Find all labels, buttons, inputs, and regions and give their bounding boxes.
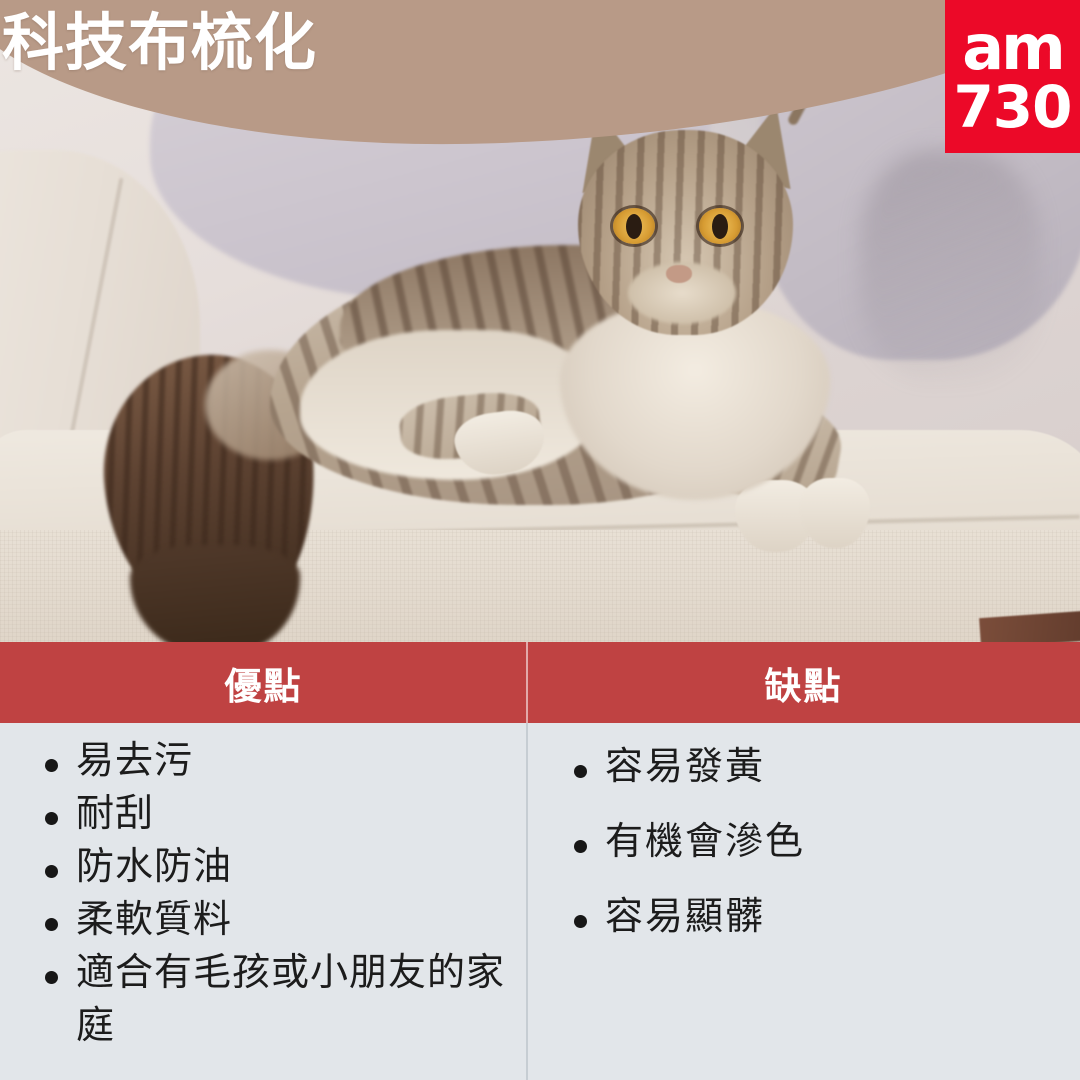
cat-pupil-right <box>712 214 728 239</box>
table-header-cons: 缺點 <box>527 642 1080 723</box>
page-title: 科技布梳化 <box>2 6 317 82</box>
list-item: 容易顯髒 <box>569 891 1070 944</box>
list-item: 柔軟質料 <box>40 894 517 947</box>
list-item: 防水防油 <box>40 841 517 894</box>
cat-pupil-left <box>626 214 642 239</box>
cat-tail-tip <box>130 545 300 642</box>
hero-photo <box>0 0 1080 642</box>
list-item: 適合有毛孩或小朋友的家庭 <box>40 947 517 1053</box>
cat-paw-right-b <box>800 478 870 548</box>
am730-logo[interactable]: am 730 <box>945 0 1080 153</box>
logo-text-am: am <box>962 18 1062 78</box>
infographic-page: 科技布梳化 am 730 優點 缺點 易去污 耐刮 防水防油 柔軟質料 適合有毛… <box>0 0 1080 1080</box>
cat-eye-right <box>699 208 741 244</box>
pros-column: 易去污 耐刮 防水防油 柔軟質料 適合有毛孩或小朋友的家庭 <box>0 723 527 1080</box>
pros-list: 易去污 耐刮 防水防油 柔軟質料 適合有毛孩或小朋友的家庭 <box>40 735 517 1053</box>
table-body: 易去污 耐刮 防水防油 柔軟質料 適合有毛孩或小朋友的家庭 容易發黃 有機會滲色… <box>0 723 1080 1080</box>
pros-cons-table: 優點 缺點 易去污 耐刮 防水防油 柔軟質料 適合有毛孩或小朋友的家庭 容易發黃… <box>0 642 1080 1080</box>
cons-column: 容易發黃 有機會滲色 容易顯髒 <box>527 723 1080 1080</box>
table-header-pros: 優點 <box>0 642 527 723</box>
list-item: 容易發黃 <box>569 741 1070 794</box>
cat-nose <box>666 265 692 283</box>
table-header-divider <box>526 642 528 723</box>
cat-illustration <box>0 0 1080 642</box>
list-item: 有機會滲色 <box>569 816 1070 869</box>
cons-list: 容易發黃 有機會滲色 容易顯髒 <box>569 741 1070 944</box>
list-item: 易去污 <box>40 735 517 788</box>
list-item: 耐刮 <box>40 788 517 841</box>
logo-text-730: 730 <box>953 78 1071 136</box>
cat-eye-left <box>613 208 655 244</box>
table-header-row: 優點 缺點 <box>0 642 1080 723</box>
